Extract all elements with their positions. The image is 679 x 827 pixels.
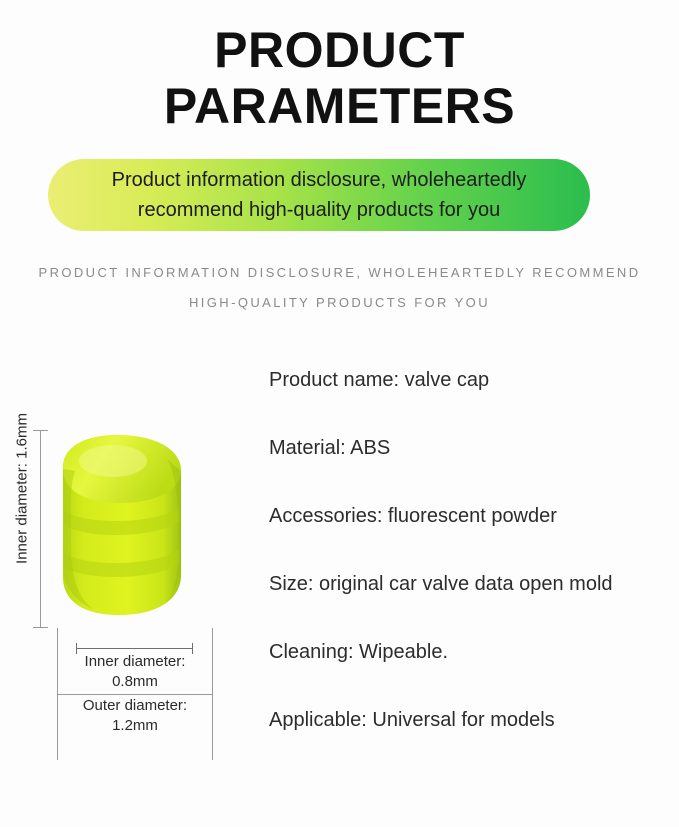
product-figure: Inner diameter: 1.6mm Inner diameter: 0.… bbox=[0, 400, 250, 760]
height-dimension-label: Inner diameter: 1.6mm bbox=[14, 389, 31, 589]
caption: PRODUCT INFORMATION DISCLOSURE, WHOLEHEA… bbox=[0, 258, 679, 318]
spec-row: Applicable: Universal for models bbox=[269, 706, 679, 774]
caption-line-2: HIGH-QUALITY PRODUCTS FOR YOU bbox=[0, 288, 679, 318]
caption-line-1: PRODUCT INFORMATION DISCLOSURE, WHOLEHEA… bbox=[0, 258, 679, 288]
page-title-line-2: PARAMETERS bbox=[0, 78, 679, 134]
height-dimension-cap-top bbox=[33, 430, 48, 431]
spec-list: Product name: valve cap Material: ABS Ac… bbox=[269, 366, 679, 774]
inner-diameter-arrow-line bbox=[76, 648, 192, 649]
page-title: PRODUCT PARAMETERS bbox=[0, 22, 679, 134]
spec-row: Product name: valve cap bbox=[269, 366, 679, 434]
inner-diameter-label-line-2: 0.8mm bbox=[57, 672, 213, 692]
diameter-separator-rule bbox=[57, 694, 213, 695]
spec-row: Material: ABS bbox=[269, 434, 679, 502]
spec-row: Accessories: fluorescent powder bbox=[269, 502, 679, 570]
inner-diameter-label-line-1: Inner diameter: bbox=[57, 652, 213, 672]
valve-cap-image bbox=[55, 425, 195, 625]
outer-diameter-label-line-2: 1.2mm bbox=[57, 716, 213, 736]
tagline-banner: Product information disclosure, wholehea… bbox=[48, 159, 590, 231]
tagline-line-1: Product information disclosure, wholehea… bbox=[112, 165, 527, 195]
height-dimension-cap-bottom bbox=[33, 627, 48, 628]
page-title-line-1: PRODUCT bbox=[0, 22, 679, 78]
outer-diameter-label-line-1: Outer diameter: bbox=[57, 696, 213, 716]
spec-row: Size: original car valve data open mold bbox=[269, 570, 679, 638]
inner-diameter-label: Inner diameter: 0.8mm bbox=[57, 652, 213, 692]
tagline-line-2: recommend high-quality products for you bbox=[138, 195, 500, 225]
height-dimension-line bbox=[40, 430, 41, 627]
spec-row: Cleaning: Wipeable. bbox=[269, 638, 679, 706]
outer-diameter-label: Outer diameter: 1.2mm bbox=[57, 696, 213, 736]
